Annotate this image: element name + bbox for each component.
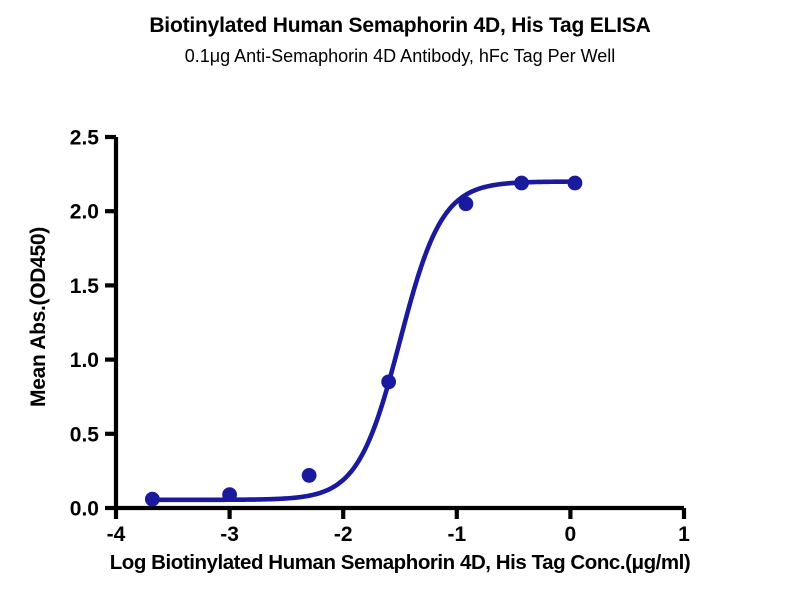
x-tick-label: -2 — [334, 523, 353, 546]
y-tick-label: 2.0 — [70, 201, 99, 224]
data-point-group — [145, 176, 582, 507]
elisa-chart-figure: Biotinylated Human Semaphorin 4D, His Ta… — [0, 0, 800, 600]
tick-mark-group — [105, 137, 684, 519]
x-tick-label: -1 — [447, 523, 466, 546]
y-tick-label: 1.5 — [70, 275, 100, 298]
x-tick-label: 1 — [678, 523, 690, 546]
x-tick-label: -3 — [220, 523, 239, 546]
plot-area: 0.00.51.01.52.02.5 -4-3-2-101 — [0, 0, 800, 600]
x-tick-label-group: -4-3-2-101 — [107, 523, 691, 546]
x-tick-label: 0 — [565, 523, 577, 546]
data-point — [381, 374, 396, 389]
data-point — [514, 176, 529, 191]
y-tick-label: 1.0 — [70, 349, 99, 372]
y-tick-label: 2.5 — [70, 127, 100, 150]
fit-curve — [152, 182, 575, 500]
y-tick-label: 0.5 — [70, 423, 100, 446]
y-tick-label-group: 0.00.51.01.52.02.5 — [70, 127, 100, 521]
data-point — [222, 487, 237, 502]
axis-spines — [116, 137, 684, 508]
data-point — [568, 176, 583, 191]
y-tick-label: 0.0 — [70, 498, 99, 521]
x-tick-label: -4 — [107, 523, 126, 546]
data-point — [458, 196, 473, 211]
data-point — [302, 468, 317, 483]
data-point — [145, 492, 160, 507]
